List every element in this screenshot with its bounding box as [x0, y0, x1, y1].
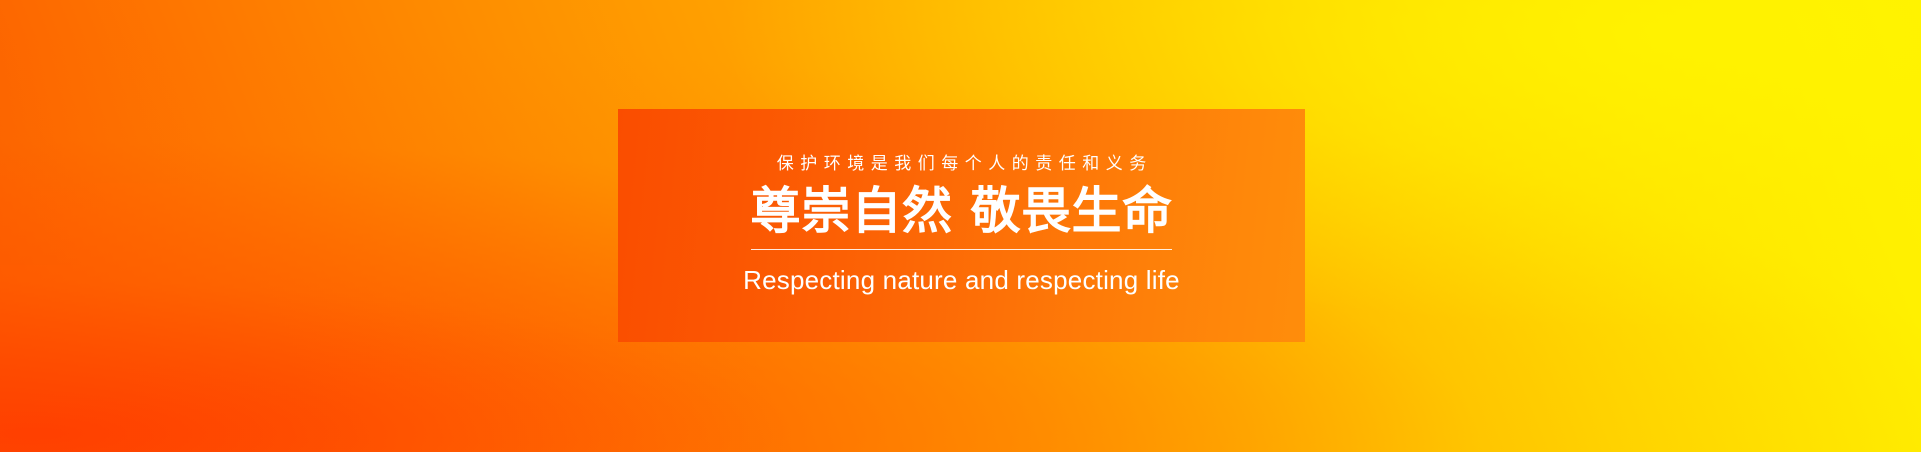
slogan-kicker-chinese: 保护环境是我们每个人的责任和义务 [770, 156, 1153, 173]
slogan-content: 保护环境是我们每个人的责任和义务 尊崇自然 敬畏生命 Respecting na… [618, 156, 1305, 294]
slogan-tagline-english: Respecting nature and respecting life [743, 267, 1180, 294]
slogan-divider-rule [751, 249, 1172, 250]
slogan-headline-chinese: 尊崇自然 敬畏生命 [751, 186, 1173, 237]
slogan-panel: 保护环境是我们每个人的责任和义务 尊崇自然 敬畏生命 Respecting na… [618, 109, 1305, 342]
banner-stage: 保护环境是我们每个人的责任和义务 尊崇自然 敬畏生命 Respecting na… [0, 0, 1921, 452]
